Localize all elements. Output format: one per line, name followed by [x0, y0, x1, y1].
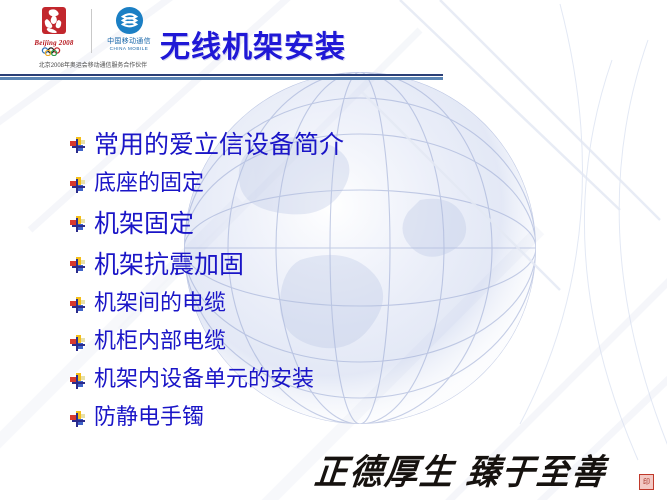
presentation-slide: Beijing 2008 — [0, 0, 667, 500]
olympic-wordmark: Beijing 2008 — [34, 39, 73, 47]
list-item-label: 常用的爱立信设备简介 — [94, 132, 344, 157]
list-item[interactable]: 机架抗震加固 — [70, 244, 630, 285]
beijing-2008-olympic-logo-icon: Beijing 2008 — [22, 6, 86, 58]
list-item[interactable]: 机柜内部电缆 — [70, 323, 630, 361]
title-underline-rule — [0, 74, 443, 80]
china-mobile-logo-icon: 中国移动通信 CHINA MOBILE — [97, 6, 161, 58]
colored-cross-bullet-icon — [70, 216, 87, 233]
china-mobile-name-en: CHINA MOBILE — [110, 46, 149, 51]
list-item[interactable]: 机架固定 — [70, 203, 630, 244]
colored-cross-bullet-icon — [70, 257, 87, 274]
list-item-label: 机架间的电缆 — [94, 293, 226, 315]
colored-cross-bullet-icon — [70, 137, 87, 154]
footer-calligraphy-left: 正德厚生 — [313, 454, 457, 492]
agenda-list: 常用的爱立信设备简介 底座的固定 机架固定 机架抗震加固 机架间的电缆 — [70, 124, 630, 437]
colored-cross-bullet-icon — [70, 411, 87, 428]
logo-block: Beijing 2008 — [22, 6, 164, 74]
list-item-label: 机架抗震加固 — [94, 252, 244, 277]
list-item-label: 底座的固定 — [94, 173, 204, 195]
footer-calligraphy-right: 臻于至善 — [465, 454, 609, 492]
logo-row: Beijing 2008 — [22, 6, 164, 58]
red-seal-stamp-icon: 印 — [639, 474, 654, 490]
slide-footer: 正德厚生臻于至善 印 — [315, 443, 660, 495]
list-item[interactable]: 机架间的电缆 — [70, 285, 630, 323]
colored-cross-bullet-icon — [70, 335, 87, 352]
list-item-label: 机架固定 — [94, 211, 194, 236]
china-mobile-name-cn: 中国移动通信 — [107, 36, 151, 46]
olympic-partner-text: 北京2008年奥运会移动通信服务合作伙伴 — [25, 60, 161, 69]
footer-calligraphy: 正德厚生臻于至善 — [312, 444, 609, 495]
list-item-label: 机柜内部电缆 — [94, 331, 226, 353]
list-item[interactable]: 底座的固定 — [70, 165, 630, 203]
slide-header: Beijing 2008 — [0, 0, 667, 80]
list-item-label: 机架内设备单元的安装 — [94, 369, 314, 391]
list-item-label: 防静电手镯 — [94, 407, 204, 429]
china-mobile-mark-icon — [115, 6, 144, 35]
colored-cross-bullet-icon — [70, 177, 87, 194]
logo-divider — [91, 9, 92, 53]
colored-cross-bullet-icon — [70, 297, 87, 314]
dancing-beijing-seal-icon — [39, 6, 69, 38]
list-item[interactable]: 防静电手镯 — [70, 399, 630, 437]
colored-cross-bullet-icon — [70, 373, 87, 390]
seal-text: 印 — [643, 479, 650, 486]
page-title: 无线机架安装 — [160, 22, 346, 66]
list-item[interactable]: 常用的爱立信设备简介 — [70, 124, 630, 165]
olympic-rings-icon — [39, 47, 69, 56]
list-item[interactable]: 机架内设备单元的安装 — [70, 361, 630, 399]
